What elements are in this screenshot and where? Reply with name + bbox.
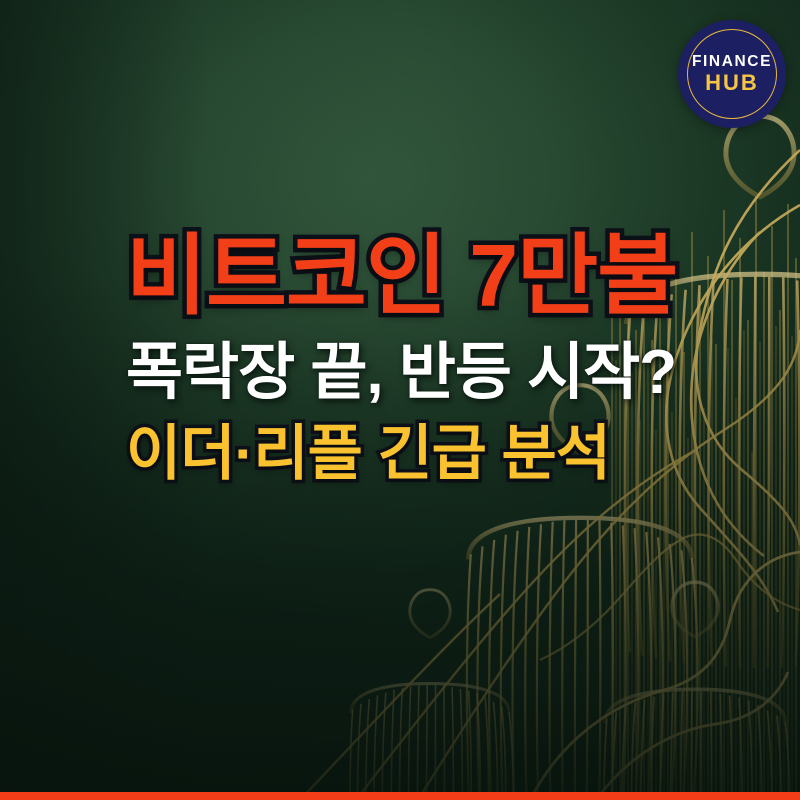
headline-line-1: 비트코인 7만불 xyxy=(126,232,746,320)
headline-block: 비트코인 7만불 폭락장 끝, 반등 시작? 이더·리플 긴급 분석 xyxy=(126,232,746,484)
logo-text-finance: FINANCE xyxy=(692,54,772,70)
logo-wordmark: FINANCE HUB xyxy=(678,20,786,128)
headline-line-2: 폭락장 끝, 반등 시작? xyxy=(126,342,746,404)
bottom-accent-bar xyxy=(0,792,800,800)
logo-text-hub: HUB xyxy=(705,72,759,94)
finance-hub-logo[interactable]: FINANCE HUB xyxy=(678,20,786,128)
thumbnail-card: FINANCE HUB 비트코인 7만불 폭락장 끝, 반등 시작? 이더·리플… xyxy=(0,0,800,800)
headline-line-3: 이더·리플 긴급 분석 xyxy=(126,424,746,484)
